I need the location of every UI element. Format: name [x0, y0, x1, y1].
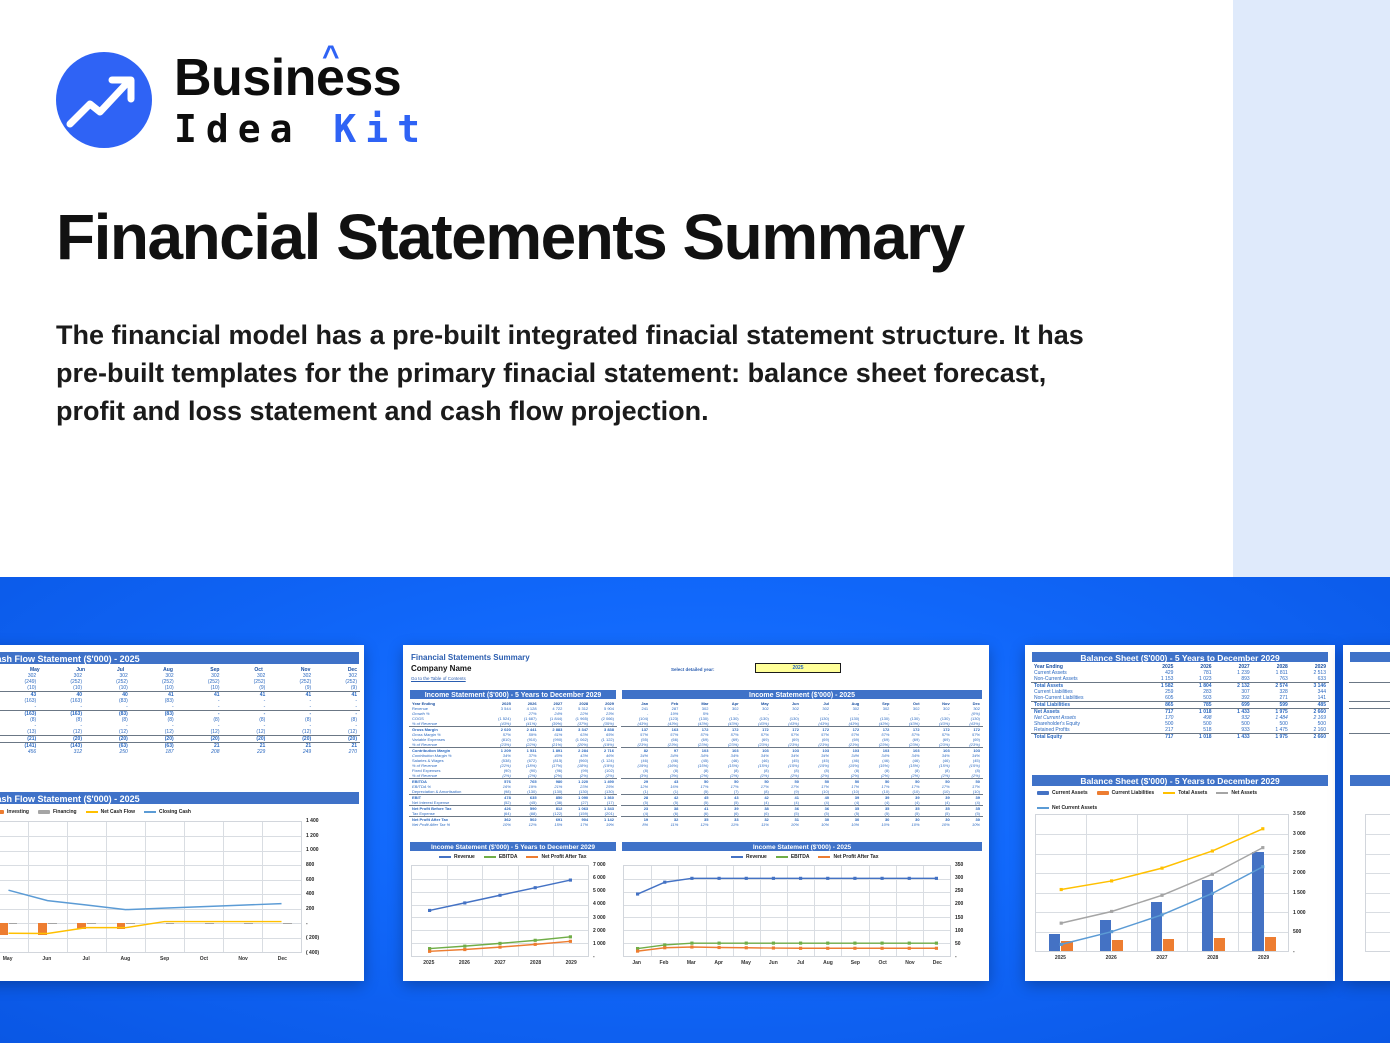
- table-cell: 10%: [862, 822, 892, 827]
- balance-sheet-table: Year Ending20252026202720282029Current A…: [1031, 664, 1329, 740]
- table-cell: 10%: [892, 822, 922, 827]
- x-axis-tick: Jan: [1365, 955, 1390, 961]
- cash-flow-plot: [0, 821, 302, 953]
- table-cell: 717: [1138, 734, 1176, 741]
- y-axis-tick: 5 000: [593, 888, 606, 894]
- x-axis-tick: 2026: [447, 960, 483, 966]
- legend-item: Closing Cash: [144, 809, 191, 815]
- x-axis-tick: Nov: [224, 956, 263, 962]
- balance-sheet-monthly-plot: [1365, 814, 1390, 952]
- income-5y-table: Year Ending20252026202720282029Revenue3 …: [409, 701, 617, 827]
- table-cell: 250: [85, 749, 131, 755]
- table-cell: 699: [1215, 702, 1253, 709]
- table-row: Total Liabilities865785699599485: [1031, 702, 1329, 709]
- slide-root: Business^ Idea Kit Financial Statements …: [0, 0, 1390, 1043]
- row-label: Total Liabilities: [1031, 702, 1138, 709]
- legend-item: Net Assets: [1216, 790, 1257, 796]
- table-cell: 17%: [565, 822, 591, 827]
- y-axis-tick: ( 200): [306, 935, 319, 941]
- legend-item: Revenue: [439, 854, 475, 860]
- x-axis-tick: Dec: [263, 956, 302, 962]
- legend-swatch: [1097, 791, 1109, 795]
- legend-item: Revenue: [731, 854, 767, 860]
- x-axis-tick: Aug: [814, 960, 841, 966]
- y-axis-tick: 400: [306, 891, 314, 897]
- cash-flow-chart[interactable]: InvestingFinancingNet Cash FlowClosing C…: [0, 807, 360, 973]
- page-title: Financial Statements Summary: [56, 200, 964, 274]
- table-row: Net Profit After Tax %10%12%15%17%19%: [409, 822, 617, 827]
- table-cell: 208: [177, 749, 223, 755]
- income-5y-chart-title: Income Statement ($'000) - 5 Years to De…: [409, 841, 617, 852]
- hero-section: Business^ Idea Kit Financial Statements …: [0, 0, 1390, 577]
- table-cell: 10%: [802, 822, 832, 827]
- balance-sheet-plot: [1035, 814, 1289, 952]
- y-axis-tick: 800: [306, 862, 314, 868]
- table-cell: (20): [223, 736, 269, 743]
- table-cell: 456: [0, 749, 39, 755]
- y-axis-tick: 2 500: [1293, 850, 1306, 856]
- table-cell: 10%: [832, 822, 862, 827]
- table-cell: 312: [39, 749, 85, 755]
- y-axis-tick: 3 000: [593, 915, 606, 921]
- table-cell: 786: [1349, 702, 1390, 709]
- x-axis-tick: Aug: [106, 956, 145, 962]
- income-5y-chart[interactable]: RevenueEBITDANet Profit After Tax 7 0006…: [409, 853, 617, 975]
- x-axis-tick: 2025: [1035, 955, 1086, 961]
- y-axis-tick: 350: [955, 862, 963, 868]
- legend-label: Net Assets: [1231, 790, 1257, 796]
- x-axis-tick: Jul: [787, 960, 814, 966]
- legend-swatch: [1037, 807, 1049, 809]
- brand-name-top: Business^: [174, 52, 429, 104]
- y-axis-tick: 150: [955, 915, 963, 921]
- x-axis-tick: 2027: [1137, 955, 1188, 961]
- y-axis-tick: 1 400: [306, 818, 319, 824]
- legend-swatch: [1163, 792, 1175, 794]
- table-row: Total Equity7171 0181 4331 9752 660: [1031, 734, 1329, 741]
- detailed-year-input[interactable]: 2025: [755, 663, 841, 673]
- hero-side-panel: [1233, 0, 1390, 577]
- table-cell: 19%: [591, 822, 617, 827]
- table-cell: (21): [0, 736, 39, 743]
- table-cell: 249: [268, 749, 314, 755]
- y-axis-tick: 3 500: [1293, 811, 1306, 817]
- screenshot-balance-sheet[interactable]: Balance Sheet ($'000) - 5 Years to Decem…: [1025, 645, 1335, 981]
- table-cell: 1 975: [1253, 734, 1291, 741]
- table-cell: 10%: [923, 822, 953, 827]
- x-axis-tick: Mar: [678, 960, 705, 966]
- x-axis-tick: Apr: [705, 960, 732, 966]
- cash-flow-body: 302302302302302302302302(249)(252)(252)(…: [0, 673, 360, 755]
- legend-label: Total Assets: [1178, 790, 1207, 796]
- x-axis-tick: Jan: [623, 960, 650, 966]
- legend-swatch: [86, 811, 98, 813]
- x-axis-tick: Oct: [869, 960, 896, 966]
- legend-label: EBITDA: [499, 854, 518, 860]
- table-cell: (20): [268, 736, 314, 743]
- x-axis-tick: 2027: [482, 960, 518, 966]
- legend-swatch: [439, 856, 451, 858]
- table-cell: 187: [131, 749, 177, 755]
- cash-flow-legend: InvestingFinancingNet Cash FlowClosing C…: [0, 809, 191, 815]
- y-axis-tick: 100: [955, 928, 963, 934]
- income-monthly-legend: RevenueEBITDANet Profit After Tax: [731, 854, 878, 860]
- balance-sheet-chart-title: Balance Sheet ($'000) - 5 Years to Decem…: [1031, 774, 1329, 787]
- table-row: 512: [1349, 734, 1390, 741]
- table-cell: 10%: [488, 822, 514, 827]
- y-axis-tick: 200: [955, 901, 963, 907]
- y-axis-tick: 300: [955, 875, 963, 881]
- legend-swatch: [731, 856, 743, 858]
- y-axis-tick: 500: [1293, 929, 1301, 935]
- y-axis-tick: 50: [955, 941, 961, 947]
- income-monthly-chart[interactable]: RevenueEBITDANet Profit After Tax 350300…: [621, 853, 983, 975]
- summary-heading: Financial Statements Summary: [411, 653, 530, 662]
- income-5y-title: Income Statement ($'000) - 5 Years to De…: [409, 689, 617, 700]
- screenshot-cash-flow[interactable]: Cash Flow Statement ($'000) - 2025 May J…: [0, 645, 364, 981]
- income-5y-plot: [411, 865, 589, 957]
- table-cell: (20): [85, 736, 131, 743]
- chart-lines: [0, 822, 301, 952]
- table-cell: 1 018: [1176, 734, 1214, 741]
- legend-item: Net Current Assets: [1037, 805, 1097, 811]
- legend-item: Current Liabilities: [1097, 790, 1155, 796]
- y-axis-tick: ( 400): [306, 950, 319, 956]
- legend-label: Net Profit After Tax: [541, 854, 586, 860]
- brand-wordmark: Business^ Idea Kit: [174, 52, 429, 148]
- table-cell: 12%: [514, 822, 540, 827]
- row-label: Net Profit After Tax %: [409, 822, 488, 827]
- legend-label: Net Current Assets: [1052, 805, 1097, 811]
- legend-label: EBITDA: [791, 854, 810, 860]
- chart-lines: [1366, 815, 1390, 951]
- screenshot-balance-sheet-monthly[interactable]: Jan1 1741241 297936927865121 08150012512…: [1343, 645, 1390, 981]
- balance-sheet-chart[interactable]: Current AssetsCurrent LiabilitiesTotal A…: [1031, 788, 1329, 976]
- table-cell: 485: [1291, 702, 1329, 709]
- table-cell: 10%: [953, 822, 983, 827]
- balance-sheet-legend: Current AssetsCurrent LiabilitiesTotal A…: [1037, 790, 1325, 811]
- chart-lines: [624, 866, 950, 956]
- balance-sheet-table-title: Balance Sheet ($'000) - 5 Years to Decem…: [1031, 651, 1329, 663]
- income-monthly-title: Income Statement ($'000) - 2025: [621, 689, 983, 700]
- table-row: 456312250187208229249270: [0, 749, 360, 755]
- table-row: 786: [1349, 702, 1390, 709]
- chart-lines: [1036, 815, 1288, 951]
- legend-item: Current Assets: [1037, 790, 1088, 796]
- y-axis-tick: -: [1293, 949, 1295, 955]
- legend-item: Net Profit After Tax: [818, 854, 878, 860]
- y-axis-tick: 3 000: [1293, 831, 1306, 837]
- table-cell: (20): [131, 736, 177, 743]
- table-cell: 12%: [681, 822, 711, 827]
- legend-label: Revenue: [746, 854, 767, 860]
- legend-label: Closing Cash: [159, 809, 191, 815]
- y-axis-tick: 600: [306, 877, 314, 883]
- income-5y-legend: RevenueEBITDANet Profit After Tax: [439, 854, 586, 860]
- x-axis-tick: May: [732, 960, 759, 966]
- row-label: Total Equity: [1031, 734, 1138, 741]
- legend-swatch: [776, 856, 788, 858]
- y-axis-tick: -: [955, 954, 957, 960]
- y-axis-tick: -: [593, 954, 595, 960]
- y-axis-tick: 1 000: [1293, 910, 1306, 916]
- legend-item: Net Cash Flow: [86, 809, 135, 815]
- table-cell: 865: [1138, 702, 1176, 709]
- x-axis-tick: Nov: [896, 960, 923, 966]
- y-axis-tick: 1 200: [306, 833, 319, 839]
- table-row: (21)(20)(20)(20)(20)(20)(20)(20): [0, 736, 360, 743]
- x-axis-tick: 2026: [1086, 955, 1137, 961]
- table-of-contents-link[interactable]: Go to the Table of Contents: [411, 676, 466, 681]
- legend-item: Net Profit After Tax: [526, 854, 586, 860]
- year-selector-label: Select detailed year:: [671, 667, 715, 672]
- y-axis-tick: 250: [955, 888, 963, 894]
- table-cell: 2 660: [1291, 734, 1329, 741]
- table-cell: 1 433: [1215, 734, 1253, 741]
- legend-swatch: [1216, 792, 1228, 794]
- x-axis-tick: Sep: [842, 960, 869, 966]
- y-axis-tick: 7 000: [593, 862, 606, 868]
- chart-lines: [412, 866, 588, 956]
- circumflex-accent-icon: ^: [322, 42, 339, 72]
- legend-label: Current Liabilities: [1112, 790, 1155, 796]
- table-cell: (20): [314, 736, 360, 743]
- legend-label: Financing: [53, 809, 77, 815]
- company-name: Company Name: [411, 664, 471, 673]
- page-description: The financial model has a pre-built inte…: [56, 316, 1096, 430]
- x-axis-tick: Jul: [67, 956, 106, 962]
- table-cell: (20): [39, 736, 85, 743]
- x-axis-tick: Jun: [760, 960, 787, 966]
- brand-logo: Business^ Idea Kit: [56, 52, 429, 148]
- legend-swatch: [818, 856, 830, 858]
- legend-item: Financing: [38, 809, 77, 815]
- y-axis-tick: 1 000: [593, 941, 606, 947]
- y-axis-tick: -: [306, 921, 308, 927]
- table-cell: 785: [1176, 702, 1214, 709]
- table-cell: 270: [314, 749, 360, 755]
- legend-item: EBITDA: [776, 854, 810, 860]
- table-cell: 599: [1253, 702, 1291, 709]
- table-cell: 11%: [651, 822, 681, 827]
- y-axis-tick: 2 000: [593, 928, 606, 934]
- table-cell: 229: [223, 749, 269, 755]
- y-axis-tick: 4 000: [593, 901, 606, 907]
- brand-name-bottom: Idea Kit: [174, 110, 429, 148]
- legend-item: Total Assets: [1163, 790, 1207, 796]
- table-cell: 15%: [540, 822, 566, 827]
- legend-label: Investing: [7, 809, 29, 815]
- x-axis-tick: Jun: [27, 956, 66, 962]
- x-axis-tick: 2028: [1187, 955, 1238, 961]
- upward-trend-arrow-icon: [56, 52, 152, 148]
- legend-label: Net Cash Flow: [101, 809, 135, 815]
- cash-flow-table-title: Cash Flow Statement ($'000) - 2025: [0, 651, 360, 665]
- income-monthly-chart-title: Income Statement ($'000) - 2025: [621, 841, 983, 852]
- x-axis-tick: Dec: [924, 960, 951, 966]
- legend-item: Investing: [0, 809, 29, 815]
- table-cell: 11%: [711, 822, 741, 827]
- y-axis-tick: 6 000: [593, 875, 606, 881]
- x-axis-tick: 2028: [518, 960, 554, 966]
- income-monthly-table: JanFebMarAprMayJunJulAugSepOctNovDec2412…: [621, 701, 983, 827]
- x-axis-tick: 2029: [553, 960, 589, 966]
- x-axis-tick: 2029: [1238, 955, 1289, 961]
- legend-swatch: [526, 856, 538, 858]
- table-row: 8%11%12%11%11%10%10%10%10%10%10%10%: [621, 822, 983, 827]
- x-axis-tick: May: [0, 956, 27, 962]
- table-cell: 11%: [742, 822, 772, 827]
- cash-flow-chart-title: Cash Flow Statement ($'000) - 2025: [0, 791, 360, 805]
- x-axis-tick: Feb: [650, 960, 677, 966]
- x-axis-tick: Sep: [145, 956, 184, 962]
- screenshot-financial-summary[interactable]: Financial Statements Summary Company Nam…: [403, 645, 989, 981]
- legend-swatch: [484, 856, 496, 858]
- legend-label: Net Profit After Tax: [833, 854, 878, 860]
- legend-swatch: [1037, 791, 1049, 795]
- table-cell: 8%: [621, 822, 651, 827]
- legend-swatch: [144, 811, 156, 813]
- x-axis-tick: Oct: [184, 956, 223, 962]
- balance-sheet-monthly-table: Jan1 1741241 297936927865121 08150012512: [1349, 664, 1390, 740]
- y-axis-tick: 1 000: [306, 847, 319, 853]
- legend-label: Revenue: [454, 854, 475, 860]
- table-cell: 512: [1349, 734, 1390, 741]
- y-axis-tick: 200: [306, 906, 314, 912]
- legend-item: EBITDA: [484, 854, 518, 860]
- x-axis-tick: 2025: [411, 960, 447, 966]
- y-axis-tick: 1 500: [1293, 890, 1306, 896]
- legend-swatch: [0, 810, 4, 814]
- legend-swatch: [38, 810, 50, 814]
- y-axis-tick: 2 000: [1293, 870, 1306, 876]
- table-cell: 10%: [772, 822, 802, 827]
- table-cell: (20): [177, 736, 223, 743]
- balance-sheet-monthly-chart[interactable]: Jan: [1349, 788, 1390, 976]
- legend-label: Current Assets: [1052, 790, 1088, 796]
- income-monthly-plot: [623, 865, 951, 957]
